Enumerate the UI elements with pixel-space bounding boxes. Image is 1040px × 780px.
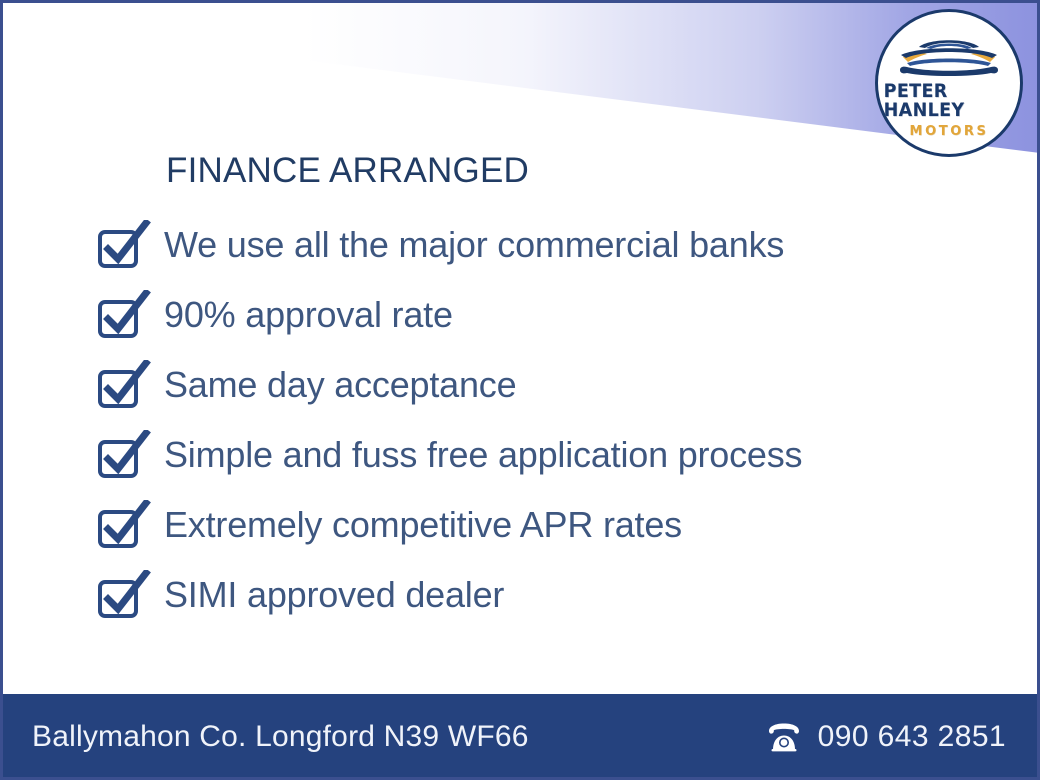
- checkbox-checked-icon: [96, 570, 164, 620]
- checkbox-checked-icon: [96, 360, 164, 410]
- checkbox-checked-icon: [96, 220, 164, 270]
- checkbox-checked-icon: [96, 290, 164, 340]
- feature-list: We use all the major commercial banks 90…: [96, 210, 996, 630]
- list-item-label: Extremely competitive APR rates: [164, 507, 682, 543]
- footer-phone-group[interactable]: 090 643 2851: [766, 720, 1006, 754]
- advert-page: PETER HANLEY MOTORS FINANCE ARRANGED We …: [0, 0, 1040, 780]
- footer-phone-number[interactable]: 090 643 2851: [818, 720, 1006, 754]
- list-item: Simple and fuss free application process: [96, 420, 996, 490]
- checkbox-checked-icon: [96, 500, 164, 550]
- list-item: Extremely competitive APR rates: [96, 490, 996, 560]
- list-item-label: Simple and fuss free application process: [164, 437, 802, 473]
- list-item-label: We use all the major commercial banks: [164, 227, 784, 263]
- brand-logo-badge: PETER HANLEY MOTORS: [875, 9, 1023, 157]
- list-item: SIMI approved dealer: [96, 560, 996, 630]
- list-item: Same day acceptance: [96, 350, 996, 420]
- list-item-label: 90% approval rate: [164, 297, 453, 333]
- brand-name: PETER HANLEY: [884, 82, 1015, 120]
- list-item: We use all the major commercial banks: [96, 210, 996, 280]
- list-item-label: SIMI approved dealer: [164, 577, 504, 613]
- telephone-icon: [766, 722, 802, 752]
- page-title: FINANCE ARRANGED: [166, 151, 529, 191]
- list-item: 90% approval rate: [96, 280, 996, 350]
- car-front-icon: [893, 29, 1005, 81]
- brand-subtitle: MOTORS: [910, 125, 989, 138]
- footer-address: Ballymahon Co. Longford N39 WF66: [32, 720, 529, 754]
- footer-contact-bar: Ballymahon Co. Longford N39 WF66 090 643…: [0, 694, 1040, 780]
- checkbox-checked-icon: [96, 430, 164, 480]
- list-item-label: Same day acceptance: [164, 367, 516, 403]
